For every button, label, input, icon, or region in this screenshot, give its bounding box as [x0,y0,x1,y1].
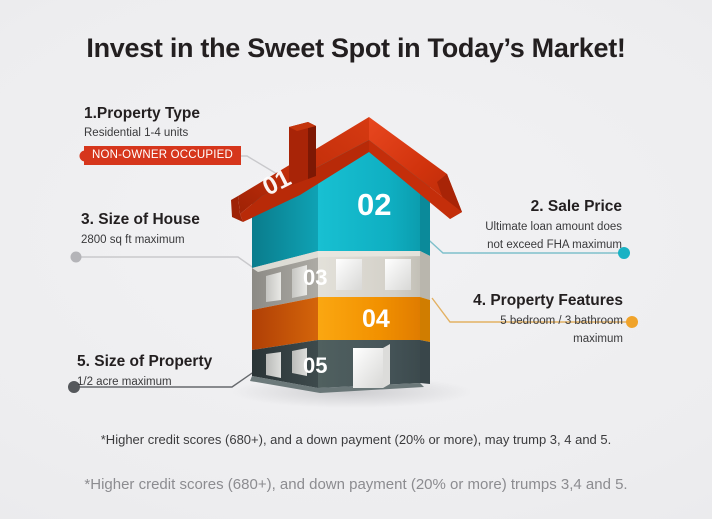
callout-3-subtitle: 2800 sq ft maximum [81,233,200,247]
callout-size-of-house: 3. Size of House 2800 sq ft maximum [81,211,200,247]
house-number-04: 04 [362,305,390,333]
callout-property-type: 1.Property Type Residential 1-4 units NO… [84,105,241,165]
callout-2-subtitle-line2: not exceed FHA maximum [485,238,622,252]
house-front-door [353,344,390,388]
callout-1-heading: 1.Property Type [84,105,241,123]
footnote-secondary: *Higher credit scores (680+), and down p… [0,476,712,493]
connector-dot-3[interactable] [71,252,82,263]
house-right-depth-4 [420,297,430,342]
callout-4-subtitle-line1: 5 bedroom / 3 bathroom [473,314,623,328]
callout-5-heading: 5. Size of Property [77,353,212,371]
house-chimney [289,122,316,186]
callout-sale-price: 2. Sale Price Ultimate loan amount does … [485,198,622,252]
callout-4-heading: 4. Property Features [473,292,623,310]
house-right-depth-3 [420,251,430,300]
callout-1-badge-wrap: NON-OWNER OCCUPIED [84,145,241,165]
non-owner-occupied-badge: NON-OWNER OCCUPIED [84,146,241,165]
callout-1-subtitle: Residential 1-4 units [84,126,241,140]
connector-dot-4[interactable] [626,316,638,328]
callout-3-heading: 3. Size of House [81,211,200,229]
house-right-depth-5 [420,340,430,384]
footnote-primary: *Higher credit scores (680+), and a down… [0,432,712,447]
infographic-canvas: Invest in the Sweet Spot in Today’s Mark… [0,0,712,519]
connector-line-3 [78,257,262,274]
callout-5-subtitle: 1/2 acre maximum [77,375,212,389]
house-number-03: 03 [303,265,327,290]
callout-2-heading: 2. Sale Price [485,198,622,216]
house-number-05: 05 [303,353,327,378]
callout-property-features: 4. Property Features 5 bedroom / 3 bathr… [473,292,623,346]
house-number-02: 02 [357,187,391,222]
callout-size-of-property: 5. Size of Property 1/2 acre maximum [77,353,212,389]
callout-2-subtitle-line1: Ultimate loan amount does [485,220,622,234]
callout-4-subtitle-line2: maximum [473,332,623,346]
